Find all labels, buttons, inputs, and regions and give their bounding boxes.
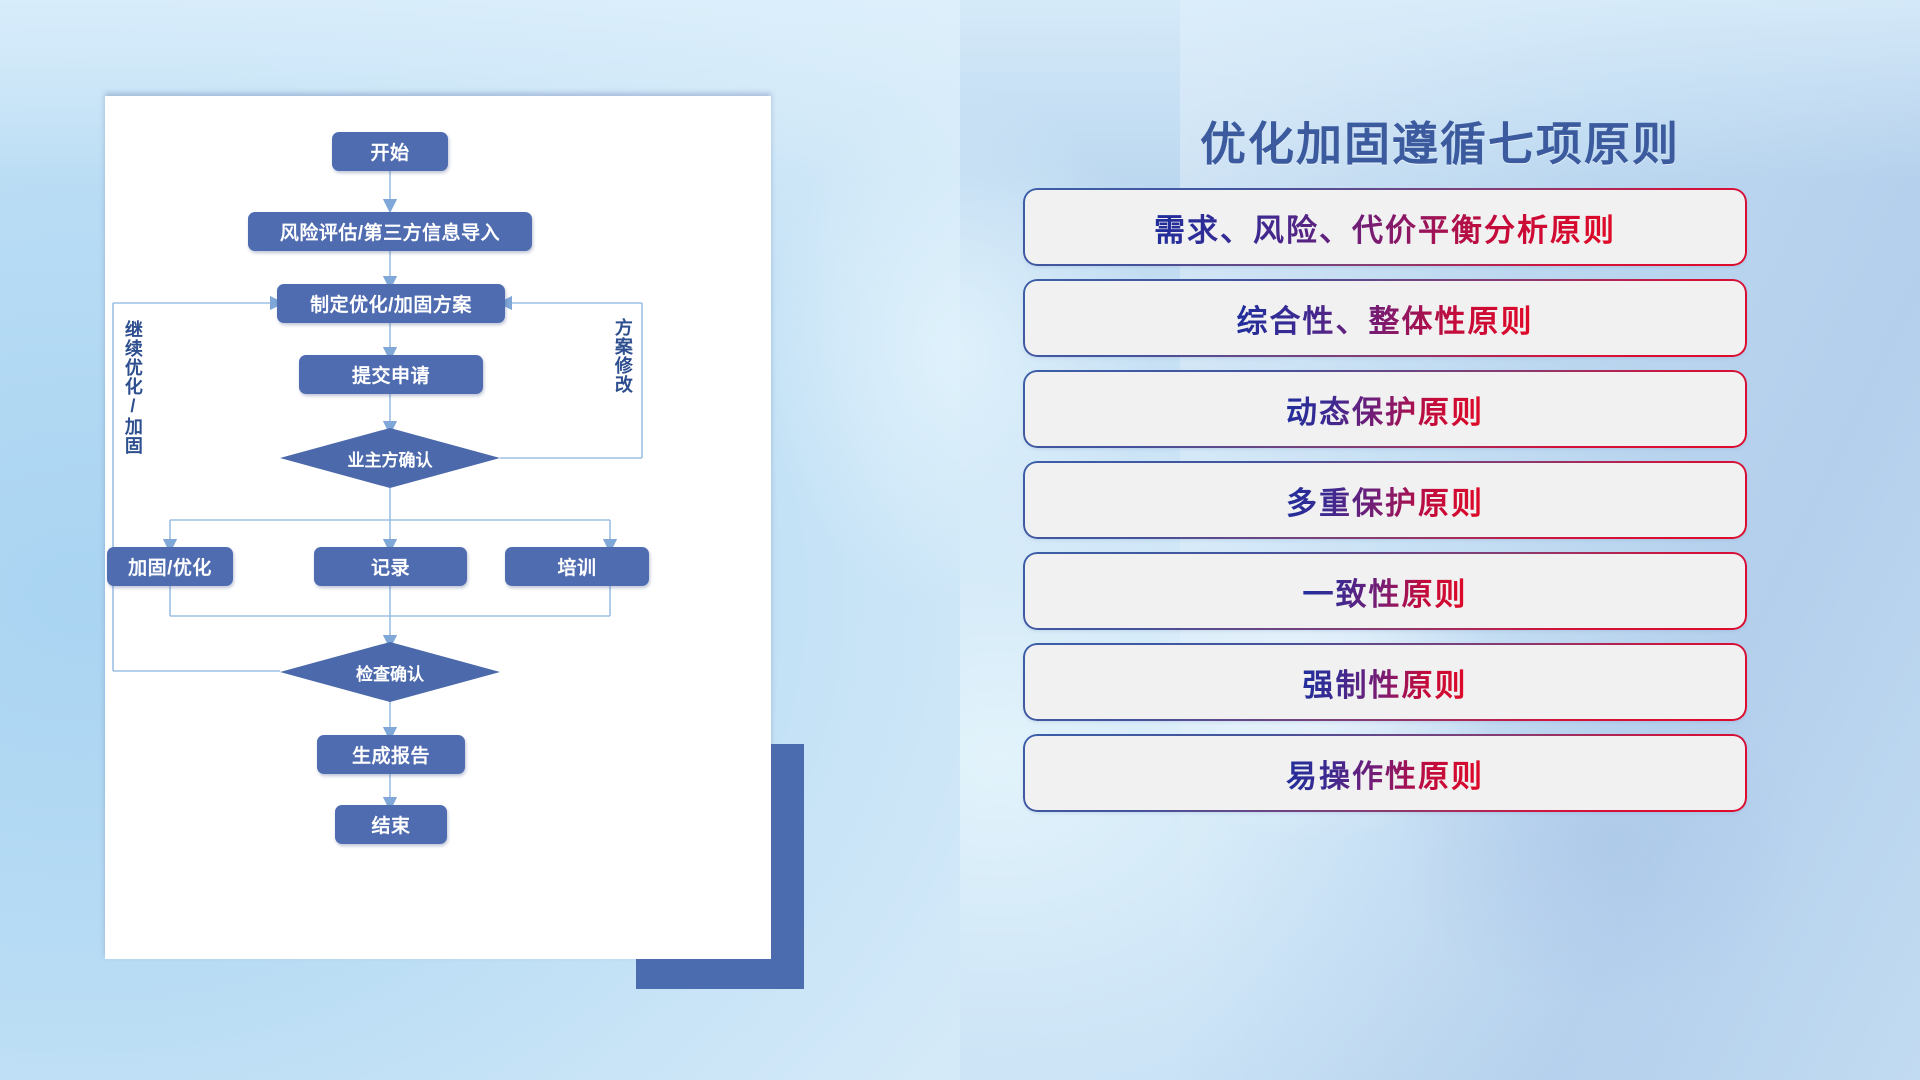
flow-node-end-label: 结束 xyxy=(371,811,410,838)
principle-card-7-label: 易操作性原则 xyxy=(1286,751,1484,796)
flow-node-submit-label: 提交申请 xyxy=(352,361,430,388)
flow-edge-label-left-loop: 继续优化/加固 xyxy=(123,320,142,460)
flow-node-submit[interactable]: 提交申请 xyxy=(299,355,483,394)
principle-card-2[interactable]: 综合性、整体性原则 xyxy=(1025,281,1745,355)
flow-decision-check-confirm-label: 检查确认 xyxy=(356,660,424,685)
principle-card-7[interactable]: 易操作性原则 xyxy=(1025,736,1745,810)
flowchart-canvas: 开始 风险评估/第三方信息导入 制定优化/加固方案 提交申请 业主方确认 加固/… xyxy=(105,96,771,959)
principle-card-1[interactable]: 需求、风险、代价平衡分析原则 xyxy=(1025,190,1745,264)
flow-node-report[interactable]: 生成报告 xyxy=(317,735,465,774)
principle-card-3-label: 动态保护原则 xyxy=(1286,387,1484,432)
flow-node-risk-assessment-label: 风险评估/第三方信息导入 xyxy=(280,218,500,245)
principle-card-6-label: 强制性原则 xyxy=(1303,660,1468,705)
principle-card-1-label: 需求、风险、代价平衡分析原则 xyxy=(1154,205,1616,250)
flowchart-card: 开始 风险评估/第三方信息导入 制定优化/加固方案 提交申请 业主方确认 加固/… xyxy=(105,96,771,959)
principle-card-3[interactable]: 动态保护原则 xyxy=(1025,372,1745,446)
flow-node-record[interactable]: 记录 xyxy=(314,547,467,586)
flow-node-training-label: 培训 xyxy=(557,553,596,580)
page-title: 优化加固遵循七项原则 xyxy=(960,108,1920,174)
flow-node-end[interactable]: 结束 xyxy=(335,805,447,844)
flow-decision-check-confirm[interactable]: 检查确认 xyxy=(280,642,500,702)
principle-card-5[interactable]: 一致性原则 xyxy=(1025,554,1745,628)
principle-card-2-label: 综合性、整体性原则 xyxy=(1237,296,1534,341)
flow-node-reinforce[interactable]: 加固/优化 xyxy=(107,547,233,586)
flow-node-plan-label: 制定优化/加固方案 xyxy=(310,290,472,317)
principle-card-4-label: 多重保护原则 xyxy=(1286,478,1484,523)
flow-edge-label-right-loop: 方案修改 xyxy=(613,318,632,418)
flow-node-report-label: 生成报告 xyxy=(352,741,430,768)
flow-node-training[interactable]: 培训 xyxy=(505,547,649,586)
flow-node-risk-assessment[interactable]: 风险评估/第三方信息导入 xyxy=(248,212,532,251)
flow-decision-owner-confirm[interactable]: 业主方确认 xyxy=(280,428,500,488)
right-panel: 优化加固遵循七项原则 需求、风险、代价平衡分析原则 综合性、整体性原则 动态保护… xyxy=(960,0,1920,1080)
principle-card-6[interactable]: 强制性原则 xyxy=(1025,645,1745,719)
flow-node-reinforce-label: 加固/优化 xyxy=(128,553,212,580)
flow-decision-owner-confirm-label: 业主方确认 xyxy=(348,446,433,471)
principle-card-4[interactable]: 多重保护原则 xyxy=(1025,463,1745,537)
flow-node-record-label: 记录 xyxy=(371,553,410,580)
flow-node-plan[interactable]: 制定优化/加固方案 xyxy=(277,284,505,323)
left-panel: 开始 风险评估/第三方信息导入 制定优化/加固方案 提交申请 业主方确认 加固/… xyxy=(0,0,960,1080)
principle-card-5-label: 一致性原则 xyxy=(1303,569,1468,614)
flow-node-start[interactable]: 开始 xyxy=(332,132,448,171)
flow-node-start-label: 开始 xyxy=(370,138,409,165)
